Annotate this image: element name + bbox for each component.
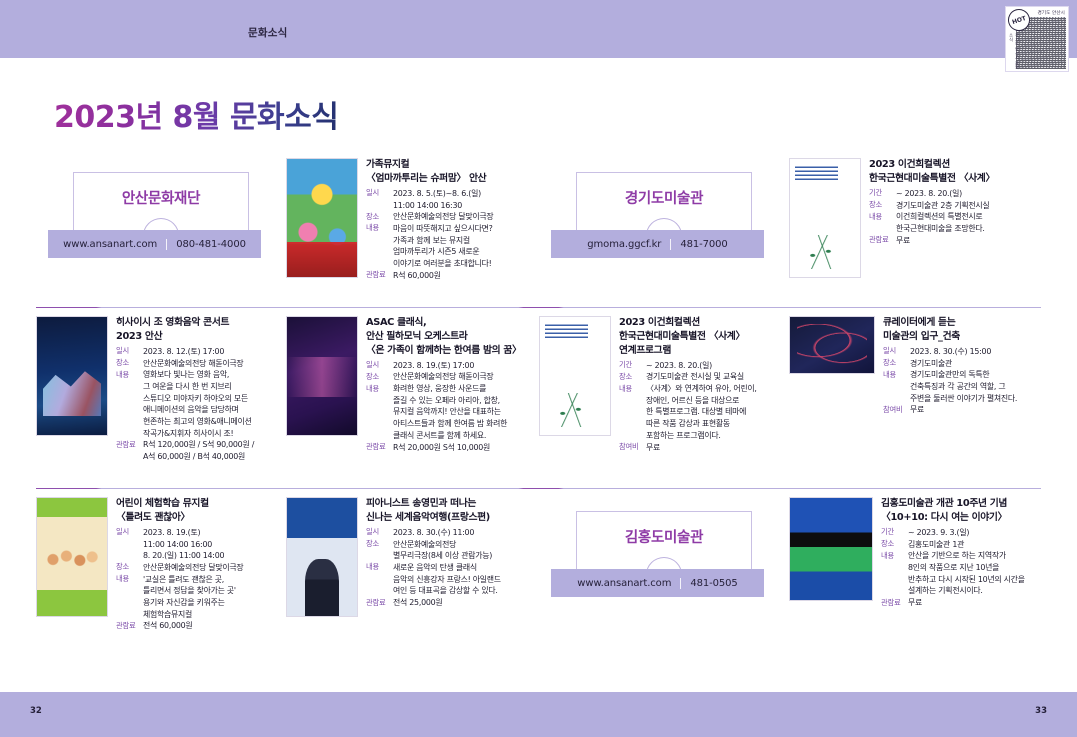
event-field-value-line: ~ 2023. 8. 20.(일) [646,360,789,372]
event-field-row: 관람료R석 60,000원 [366,270,539,282]
event-title-line: 김홍도미술관 개관 10주년 기념 [881,497,1041,511]
event-field-value-line: R석 20,000원 S석 10,000원 [393,442,539,454]
event-field-value: 2023. 8. 5.(토)~8. 6.(일)11:00 14:00 16:30 [393,188,539,211]
badge-side-label: 경기도 안산시 문화소식 [1008,33,1020,71]
event-field-label: 내용 [881,550,908,561]
event-field-row: 관람료R석 20,000원 S석 10,000원 [366,442,539,454]
event-field-value: 〈사계〉와 연계하여 유아, 어린이,장애인, 어르신 등을 대상으로한 특별프… [646,383,789,441]
event-field-value: ~ 2023. 8. 20.(일) [646,360,789,372]
event-field-value: 김홍도미술관 1관 [908,539,1041,551]
event-field-value-line: 음악의 신흥강자 프랑스! 아일랜드 [393,574,539,586]
event-field-value-line: 안산문화예술의전당 [393,539,539,551]
event-title-line: 안산 필하모닉 오케스트라 [366,330,539,344]
header-section-title: 문화소식 [248,25,287,40]
event-entry: 히사이시 조 영화음악 콘서트2023 안산일시2023. 8. 12.(토) … [36,308,286,488]
event-field-value-line: 여인 등 대표곡을 감상할 수 있다. [393,585,539,597]
event-title: 가족뮤지컬〈엄마까투리는 슈퍼맘〉 안산 [366,158,539,186]
event-body: 큐레이터에게 듣는미술관의 입구_건축일시2023. 8. 30.(수) 15:… [789,308,1041,488]
event-field-value-line: 경기도미술관 [910,358,1041,370]
event-field-value-line: 〈사계〉와 연계하여 유아, 어린이, [646,383,789,395]
event-title-line: 〈틀려도 괜찮아〉 [116,511,286,525]
event-title: 큐레이터에게 듣는미술관의 입구_건축 [883,316,1041,344]
event-field-value-line: 2023. 8. 5.(토)~8. 6.(일) [393,188,539,200]
top-header-bar: 문화소식 [0,0,1077,58]
event-field-value-line: 이야기로 여러분을 초대합니다! [393,258,539,270]
event-field-value: 안산문화예술의전당별무리극장(8세 이상 관람가능) [393,539,539,562]
event-field-value: 2023. 8. 19.(토)11:00 14:00 16:008. 20.(일… [143,527,286,562]
event-field-value-line: 아티스트들과 함께 한여름 밤 화려한 [393,418,539,430]
event-field-value-line: 따른 작품 감상과 표현활동 [646,418,789,430]
event-field-row: 장소김홍도미술관 1관 [881,539,1041,551]
event-field-value-line: 경기도미술관만의 독특한 [910,369,1041,381]
event-field-value-line: 틀리면서 정답을 찾아가는 곳' [143,585,286,597]
event-field-value-line: 클래식 콘서트를 함께 하세요. [393,430,539,442]
event-field-value: 안산문화예술의전당 해돋이극장 [393,371,539,383]
event-field-value-line: 한국근현대미술을 조망한다. [896,223,1041,235]
event-field-label: 장소 [883,358,910,369]
event-text-block: 김홍도미술관 개관 10주년 기념〈10+10: 다시 여는 이야기〉기간~ 2… [881,497,1041,667]
event-field-value-line: 전석 25,000원 [393,597,539,609]
event-field-row: 기간~ 2023. 8. 20.(일) [619,360,789,372]
event-field-value-line: 체험학습뮤지컬 [143,609,286,621]
event-field-value-line: A석 60,000원 / B석 40,000원 [143,451,286,463]
event-field-label: 관람료 [881,597,908,608]
corner-qr-badge: HOT 경기도 안산시 경기도 안산시 문화소식 [1005,6,1069,72]
event-field-value-line: 2023. 8. 30.(수) 15:00 [910,346,1041,358]
event-field-label: 내용 [116,574,143,585]
event-field-label: 관람료 [366,270,393,281]
event-text-block: ASAC 클래식,안산 필하모닉 오케스트라〈온 가족이 함께하는 한여름 밤의… [366,316,539,488]
event-field-value: 무료 [896,235,1041,247]
event-field-row: 일시2023. 8. 12.(토) 17:00 [116,346,286,358]
institution-card-body: 김홍도미술관전시www.ansanart.com481-0505 [539,489,789,667]
event-body: ASAC 클래식,안산 필하모닉 오케스트라〈온 가족이 함께하는 한여름 밤의… [286,308,539,488]
event-field-label: 일시 [883,346,910,357]
event-field-value: 안산문화예술의전당 해돋이극장 [143,358,286,370]
event-field-value-line: 뮤지컬 음악까지! 안산을 대표하는 [393,406,539,418]
event-field-label: 일시 [116,346,143,357]
event-field-row: 관람료무료 [881,597,1041,609]
event-field-value-line: 2023. 8. 19.(토) [143,527,286,539]
event-field-row: 장소경기도미술관 전시실 및 교육실 [619,371,789,383]
event-poster-image [789,158,861,278]
event-field-list: 일시2023. 8. 30.(수) 11:00장소안산문화예술의전당별무리극장(… [366,527,539,609]
event-field-row: 관람료전석 25,000원 [366,597,539,609]
event-field-value-line: 11:00 14:00 16:30 [393,200,539,212]
event-field-value-line: 11:00 14:00 16:00 [143,539,286,551]
event-poster-image [36,316,108,436]
event-field-label: 내용 [116,369,143,380]
event-field-row: 장소경기도미술관 2층 기획전시실 [869,200,1041,212]
event-field-value-line: '교실은 틀려도 괜찮은 곳, [143,574,286,586]
event-field-value-line: 무료 [646,442,789,454]
institution-phone-number[interactable]: 481-7000 [680,239,727,250]
event-field-value: R석 20,000원 S석 10,000원 [393,442,539,454]
event-field-value-line: 김홍도미술관 1관 [908,539,1041,551]
institution-card: 안산문화재단공연www.ansanart.com080-481-4000 [36,150,286,307]
event-field-label: 장소 [881,539,908,550]
event-field-value: 무료 [908,597,1041,609]
event-field-value-line: 포함하는 프로그램이다. [646,430,789,442]
event-field-row: 내용영화보다 빛나는 영화 음악,그 여운을 다시 한 번 지브리스튜디오 미야… [116,369,286,439]
event-entry: 2023 이건희컬렉션한국근현대미술특별전 〈사계〉기간~ 2023. 8. 2… [789,150,1041,307]
event-poster-image [789,497,873,601]
page-number-right: 33 [1035,706,1047,716]
event-field-row: 장소안산문화예술의전당 달맞이극장 [366,211,539,223]
event-text-block: 피아니스트 송영민과 떠나는신나는 세계음악여행(프랑스편)일시2023. 8.… [366,497,539,667]
event-poster-image [36,497,108,617]
event-field-list: 일시2023. 8. 5.(토)~8. 6.(일)11:00 14:00 16:… [366,188,539,282]
institution-card-body: 안산문화재단공연www.ansanart.com080-481-4000 [36,150,286,307]
event-field-value: 경기도미술관 2층 기획전시실 [896,200,1041,212]
event-field-value: 안산문화예술의전당 달맞이극장 [393,211,539,223]
event-field-list: 기간~ 2023. 9. 3.(일)장소김홍도미술관 1관내용안산을 기반으로 … [881,527,1041,609]
event-field-row: 일시2023. 8. 5.(토)~8. 6.(일)11:00 14:00 16:… [366,188,539,211]
event-field-label: 관람료 [366,442,393,453]
event-field-row: 관람료무료 [869,235,1041,247]
event-title-line: 큐레이터에게 듣는 [883,316,1041,330]
event-text-block: 큐레이터에게 듣는미술관의 입구_건축일시2023. 8. 30.(수) 15:… [883,316,1041,488]
event-field-value: 2023. 8. 30.(수) 11:00 [393,527,539,539]
institution-card: 경기도미술관전시gmoma.ggcf.kr481-7000 [539,150,789,307]
event-field-row: 기간~ 2023. 8. 20.(일) [869,188,1041,200]
event-field-label: 내용 [366,562,393,573]
institution-card-body: 경기도미술관전시gmoma.ggcf.kr481-7000 [539,150,789,307]
event-field-list: 기간~ 2023. 8. 20.(일)장소경기도미술관 2층 기획전시실내용이건… [869,188,1041,246]
event-field-value: 영화보다 빛나는 영화 음악,그 여운을 다시 한 번 지브리스튜디오 미야자키… [143,369,286,439]
event-field-row: 관람료전석 60,000원 [116,620,286,632]
event-field-row: 관람료R석 120,000원 / S석 90,000원 /A석 60,000원 … [116,439,286,462]
event-field-value-line: 건축특징과 각 공간의 역할, 그 [910,381,1041,393]
event-field-value: 새로운 음악의 탄생 클래식음악의 신흥강자 프랑스! 아일랜드여인 등 대표곡… [393,562,539,597]
contact-divider [670,239,671,250]
event-field-value: 무료 [646,442,789,454]
event-field-value: ~ 2023. 9. 3.(일) [908,527,1041,539]
event-title: 피아니스트 송영민과 떠나는신나는 세계음악여행(프랑스편) [366,497,539,525]
event-field-value-line: R석 120,000원 / S석 90,000원 / [143,439,286,451]
event-field-label: 기간 [619,360,646,371]
event-field-value: 경기도미술관 [910,358,1041,370]
event-field-row: 내용이건희컬렉션의 특별전시로한국근현대미술을 조망한다. [869,211,1041,234]
event-field-label: 내용 [883,369,910,380]
event-title-line: 〈온 가족이 함께하는 한여름 밤의 꿈〉 [366,344,539,358]
event-field-label: 장소 [116,358,143,369]
event-field-list: 일시2023. 8. 12.(토) 17:00장소안산문화예술의전당 해돋이극장… [116,346,286,463]
event-field-row: 일시2023. 8. 19.(토)11:00 14:00 16:008. 20.… [116,527,286,562]
content-row: 어린이 체험학습 뮤지컬〈틀려도 괜찮아〉일시2023. 8. 19.(토)11… [36,489,1041,667]
event-field-row: 내용〈사계〉와 연계하여 유아, 어린이,장애인, 어르신 등을 대상으로한 특… [619,383,789,441]
event-title-line: 〈엄마까투리는 슈퍼맘〉 안산 [366,172,539,186]
event-field-row: 내용경기도미술관만의 독특한건축특징과 각 공간의 역할, 그주변을 둘러싼 이… [883,369,1041,404]
event-field-value-line: 안산문화예술의전당 해돋이극장 [143,358,286,370]
event-field-label: 관람료 [116,620,143,631]
event-field-row: 일시2023. 8. 19.(토) 17:00 [366,360,539,372]
event-field-value: 전석 25,000원 [393,597,539,609]
event-title: 히사이시 조 영화음악 콘서트2023 안산 [116,316,286,344]
event-field-label: 장소 [366,371,393,382]
event-field-value: 경기도미술관만의 독특한건축특징과 각 공간의 역할, 그주변을 둘러싼 이야기… [910,369,1041,404]
bottom-footer-bar: 32 33 [0,692,1077,737]
event-title-line: 미술관의 입구_건축 [883,330,1041,344]
content-row: 안산문화재단공연www.ansanart.com080-481-4000가족뮤지… [36,150,1041,307]
badge-region-label: 경기도 안산시 [1037,10,1065,16]
event-body: 가족뮤지컬〈엄마까투리는 슈퍼맘〉 안산일시2023. 8. 5.(토)~8. … [286,150,539,307]
event-field-value: R석 60,000원 [393,270,539,282]
event-field-value-line: 작곡가&지휘자 히사이시 조! [143,428,286,440]
event-field-label: 내용 [366,383,393,394]
event-body: 김홍도미술관 개관 10주년 기념〈10+10: 다시 여는 이야기〉기간~ 2… [789,489,1041,667]
institution-website-link[interactable]: www.ansanart.com [63,239,157,250]
event-entry: 어린이 체험학습 뮤지컬〈틀려도 괜찮아〉일시2023. 8. 19.(토)11… [36,489,286,667]
event-field-label: 장소 [116,562,143,573]
event-field-list: 일시2023. 8. 30.(수) 15:00장소경기도미술관내용경기도미술관만… [883,346,1041,416]
event-field-value: 마음이 따뜻해지고 싶으시다면?가족과 함께 보는 뮤지컬엄마까투리가 시즌5 … [393,223,539,270]
event-field-value: 2023. 8. 19.(토) 17:00 [393,360,539,372]
event-field-value-line: 가족과 함께 보는 뮤지컬 [393,235,539,247]
event-field-value-line: 경기도미술관 2층 기획전시실 [896,200,1041,212]
event-poster-image [789,316,875,374]
event-field-value-line: 안산문화예술의전당 달맞이극장 [393,211,539,223]
event-title-line: 연계프로그램 [619,344,789,358]
event-field-value-line: 이건희컬렉션의 특별전시로 [896,211,1041,223]
event-field-row: 내용안산을 기반으로 하는 지역작가8인의 작품으로 지난 10년을반추하고 다… [881,550,1041,597]
event-title-line: 2023 이건희컬렉션 [869,158,1041,172]
event-field-row: 내용마음이 따뜻해지고 싶으시다면?가족과 함께 보는 뮤지컬엄마까투리가 시즌… [366,223,539,270]
event-entry: ASAC 클래식,안산 필하모닉 오케스트라〈온 가족이 함께하는 한여름 밤의… [286,308,539,488]
event-field-value-line: 엄마까투리가 시즌5 새로운 [393,246,539,258]
event-entry: 김홍도미술관 개관 10주년 기념〈10+10: 다시 여는 이야기〉기간~ 2… [789,489,1041,667]
event-field-value-line: ~ 2023. 8. 20.(일) [896,188,1041,200]
event-title-line: 피아니스트 송영민과 떠나는 [366,497,539,511]
event-field-row: 장소안산문화예술의전당 해돋이극장 [366,371,539,383]
event-field-value-line: 마음이 따뜻해지고 싶으시다면? [393,223,539,235]
event-field-value: '교실은 틀려도 괜찮은 곳,틀리면서 정답을 찾아가는 곳'용기와 자신감을 … [143,574,286,621]
event-field-label: 관람료 [366,597,393,608]
event-field-value-line: 전석 60,000원 [143,620,286,632]
event-field-value-line: 화려한 영상, 웅장한 사운드를 [393,383,539,395]
event-field-label: 일시 [116,527,143,538]
event-field-label: 장소 [619,371,646,382]
event-field-label: 내용 [869,211,896,222]
event-field-value: 안산문화예술의전당 달맞이극장 [143,562,286,574]
event-field-value-line: 주변을 둘러싼 이야기가 펼쳐진다. [910,393,1041,405]
page-title: 2023년 8월 문화소식 [54,92,338,136]
event-field-value-line: 안산문화예술의전당 해돋이극장 [393,371,539,383]
event-title-line: 〈10+10: 다시 여는 이야기〉 [881,511,1041,525]
event-field-value-line: 안산을 기반으로 하는 지역작가 [908,550,1041,562]
event-field-value-line: 영화보다 빛나는 영화 음악, [143,369,286,381]
event-title: 김홍도미술관 개관 10주년 기념〈10+10: 다시 여는 이야기〉 [881,497,1041,525]
event-field-value-line: R석 60,000원 [393,270,539,282]
event-field-label: 관람료 [116,439,143,450]
institution-name: 안산문화재단 [122,187,200,208]
event-title-line: 히사이시 조 영화음악 콘서트 [116,316,286,330]
event-field-list: 기간~ 2023. 8. 20.(일)장소경기도미술관 전시실 및 교육실내용〈… [619,360,789,454]
event-field-value-line: 별무리극장(8세 이상 관람가능) [393,550,539,562]
event-field-label: 일시 [366,527,393,538]
event-field-row: 내용'교실은 틀려도 괜찮은 곳,틀리면서 정답을 찾아가는 곳'용기와 자신감… [116,574,286,621]
event-field-value-line: 설계하는 기획전시이다. [908,585,1041,597]
institution-card: 김홍도미술관전시www.ansanart.com481-0505 [539,489,789,667]
event-field-label: 참여비 [883,404,910,415]
event-field-label: 일시 [366,188,393,199]
event-field-row: 참여비무료 [619,442,789,454]
event-field-row: 장소안산문화예술의전당 해돋이극장 [116,358,286,370]
event-field-value: 화려한 영상, 웅장한 사운드를즐길 수 있는 오페라 아리아, 합창,뮤지컬 … [393,383,539,441]
event-title-line: 한국근현대미술특별전 〈사계〉 [869,172,1041,186]
event-text-block: 어린이 체험학습 뮤지컬〈틀려도 괜찮아〉일시2023. 8. 19.(토)11… [116,497,286,667]
event-field-label: 장소 [366,211,393,222]
event-field-value-line: 그 여운을 다시 한 번 지브리 [143,381,286,393]
event-field-row: 기간~ 2023. 9. 3.(일) [881,527,1041,539]
event-poster-image [539,316,611,436]
institution-phone-number[interactable]: 080-481-4000 [176,239,246,250]
event-field-row: 일시2023. 8. 30.(수) 15:00 [883,346,1041,358]
event-title-line: 어린이 체험학습 뮤지컬 [116,497,286,511]
event-field-value-line: 무료 [910,404,1041,416]
event-entry: 2023 이건희컬렉션한국근현대미술특별전 〈사계〉연계프로그램기간~ 2023… [539,308,789,488]
event-field-value-line: 용기와 자신감을 키워주는 [143,597,286,609]
event-field-value-line: 2023. 8. 12.(토) 17:00 [143,346,286,358]
event-field-value: 안산을 기반으로 하는 지역작가8인의 작품으로 지난 10년을반추하고 다시 … [908,550,1041,597]
institution-name: 김홍도미술관 [625,526,703,547]
content-row: 히사이시 조 영화음악 콘서트2023 안산일시2023. 8. 12.(토) … [36,308,1041,488]
event-body: 피아니스트 송영민과 떠나는신나는 세계음악여행(프랑스편)일시2023. 8.… [286,489,539,667]
event-text-block: 2023 이건희컬렉션한국근현대미술특별전 〈사계〉기간~ 2023. 8. 2… [869,158,1041,307]
event-field-value-line: 8. 20.(일) 11:00 14:00 [143,550,286,562]
event-field-label: 관람료 [869,235,896,246]
event-field-label: 장소 [869,200,896,211]
event-title-line: 한국근현대미술특별전 〈사계〉 [619,330,789,344]
institution-website-link[interactable]: gmoma.ggcf.kr [587,239,661,250]
event-field-value: 2023. 8. 12.(토) 17:00 [143,346,286,358]
event-title-line: 2023 이건희컬렉션 [619,316,789,330]
event-text-block: 가족뮤지컬〈엄마까투리는 슈퍼맘〉 안산일시2023. 8. 5.(토)~8. … [366,158,539,307]
event-field-value-line: ~ 2023. 9. 3.(일) [908,527,1041,539]
event-entry: 피아니스트 송영민과 떠나는신나는 세계음악여행(프랑스편)일시2023. 8.… [286,489,539,667]
event-field-value: R석 120,000원 / S석 90,000원 /A석 60,000원 / B… [143,439,286,462]
event-body: 히사이시 조 영화음악 콘서트2023 안산일시2023. 8. 12.(토) … [36,308,286,488]
event-poster-image [286,316,358,436]
event-field-value: 전석 60,000원 [143,620,286,632]
event-field-value: 이건희컬렉션의 특별전시로한국근현대미술을 조망한다. [896,211,1041,234]
event-entry: 가족뮤지컬〈엄마까투리는 슈퍼맘〉 안산일시2023. 8. 5.(토)~8. … [286,150,539,307]
content-root: 안산문화재단공연www.ansanart.com080-481-4000가족뮤지… [0,150,1077,667]
event-field-value-line: 스튜디오 미야자키 하야오의 모든 [143,393,286,405]
event-field-label: 참여비 [619,442,646,453]
event-title: 2023 이건희컬렉션한국근현대미술특별전 〈사계〉연계프로그램 [619,316,789,358]
event-field-value-line: 무료 [908,597,1041,609]
event-body: 2023 이건희컬렉션한국근현대미술특별전 〈사계〉연계프로그램기간~ 2023… [539,308,789,488]
institution-contact-bar: gmoma.ggcf.kr481-7000 [551,230,764,258]
event-field-label: 기간 [869,188,896,199]
event-field-list: 일시2023. 8. 19.(토) 17:00장소안산문화예술의전당 해돋이극장… [366,360,539,454]
event-entry: 큐레이터에게 듣는미술관의 입구_건축일시2023. 8. 30.(수) 15:… [789,308,1041,488]
event-field-value-line: 무료 [896,235,1041,247]
event-title-line: 가족뮤지컬 [366,158,539,172]
event-field-label: 장소 [366,539,393,550]
event-field-row: 내용화려한 영상, 웅장한 사운드를즐길 수 있는 오페라 아리아, 합창,뮤지… [366,383,539,441]
event-text-block: 히사이시 조 영화음악 콘서트2023 안산일시2023. 8. 12.(토) … [116,316,286,488]
event-poster-image [286,497,358,617]
event-field-value: ~ 2023. 8. 20.(일) [896,188,1041,200]
institution-name: 경기도미술관 [625,187,703,208]
event-field-label: 기간 [881,527,908,538]
event-field-value-line: 반추하고 다시 시작된 10년의 시간을 [908,574,1041,586]
event-field-value-line: 장애인, 어르신 등을 대상으로 [646,395,789,407]
event-title: ASAC 클래식,안산 필하모닉 오케스트라〈온 가족이 함께하는 한여름 밤의… [366,316,539,358]
event-field-value-line: 한 특별프로그램. 대상별 테마에 [646,406,789,418]
event-field-value: 경기도미술관 전시실 및 교육실 [646,371,789,383]
event-field-row: 장소안산문화예술의전당 달맞이극장 [116,562,286,574]
event-field-value-line: 경기도미술관 전시실 및 교육실 [646,371,789,383]
event-field-row: 참여비무료 [883,404,1041,416]
event-poster-image [286,158,358,278]
event-field-value-line: 안산문화예술의전당 달맞이극장 [143,562,286,574]
event-title-line: 2023 안산 [116,330,286,344]
event-field-value: 2023. 8. 30.(수) 15:00 [910,346,1041,358]
event-field-value-line: 2023. 8. 19.(토) 17:00 [393,360,539,372]
institution-contact-bar: www.ansanart.com481-0505 [551,569,764,597]
page-number-left: 32 [30,706,42,716]
event-field-list: 일시2023. 8. 19.(토)11:00 14:00 16:008. 20.… [116,527,286,632]
event-body: 어린이 체험학습 뮤지컬〈틀려도 괜찮아〉일시2023. 8. 19.(토)11… [36,489,286,667]
event-field-value-line: 2023. 8. 30.(수) 11:00 [393,527,539,539]
event-title: 어린이 체험학습 뮤지컬〈틀려도 괜찮아〉 [116,497,286,525]
event-field-row: 장소경기도미술관 [883,358,1041,370]
event-text-block: 2023 이건희컬렉션한국근현대미술특별전 〈사계〉연계프로그램기간~ 2023… [619,316,789,488]
event-field-value-line: 8인의 작품으로 지난 10년을 [908,562,1041,574]
event-field-row: 장소안산문화예술의전당별무리극장(8세 이상 관람가능) [366,539,539,562]
event-title-line: ASAC 클래식, [366,316,539,330]
institution-phone-number[interactable]: 481-0505 [690,578,737,589]
event-field-row: 내용새로운 음악의 탄생 클래식음악의 신흥강자 프랑스! 아일랜드여인 등 대… [366,562,539,597]
event-field-label: 일시 [366,360,393,371]
event-field-value-line: 즐길 수 있는 오페라 아리아, 합창, [393,395,539,407]
event-body: 2023 이건희컬렉션한국근현대미술특별전 〈사계〉기간~ 2023. 8. 2… [789,150,1041,307]
contact-divider [166,239,167,250]
event-field-row: 일시2023. 8. 30.(수) 11:00 [366,527,539,539]
event-field-label: 내용 [619,383,646,394]
event-field-value-line: 애니메이션의 음악을 담당하며 [143,404,286,416]
institution-contact-bar: www.ansanart.com080-481-4000 [48,230,261,258]
event-title: 2023 이건희컬렉션한국근현대미술특별전 〈사계〉 [869,158,1041,186]
event-field-value-line: 새로운 음악의 탄생 클래식 [393,562,539,574]
institution-website-link[interactable]: www.ansanart.com [577,578,671,589]
event-field-value: 무료 [910,404,1041,416]
event-field-value-line: 현존하는 최고의 영화&애니메이션 [143,416,286,428]
event-title-line: 신나는 세계음악여행(프랑스편) [366,511,539,525]
event-field-label: 내용 [366,223,393,234]
contact-divider [680,578,681,589]
